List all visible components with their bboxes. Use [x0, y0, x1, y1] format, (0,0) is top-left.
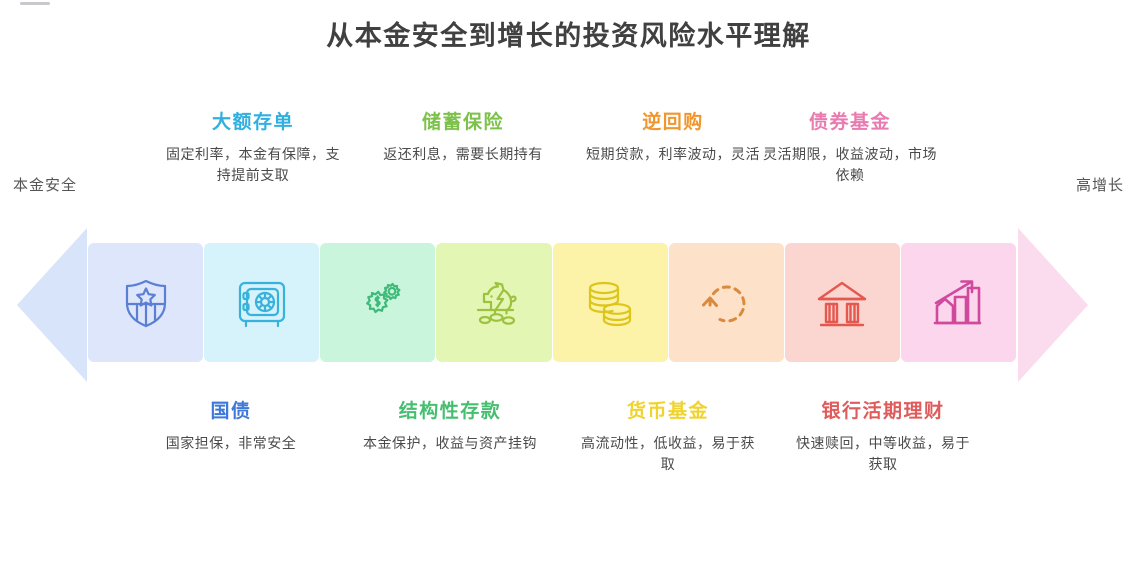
- window-edge-artifact: [20, 2, 50, 5]
- callout-title: 大额存单: [163, 111, 343, 135]
- card-shield-star[interactable]: [88, 243, 203, 362]
- callout-top-3: 逆回购 短期贷款，利率波动，灵活: [583, 111, 763, 166]
- callout-desc: 快速赎回，中等收益，易于获取: [793, 434, 973, 477]
- card-piggy-bank-broken[interactable]: [436, 243, 551, 362]
- callout-title: 国债: [141, 400, 321, 424]
- card-bank-building[interactable]: [785, 243, 900, 362]
- callout-title: 银行活期理财: [793, 400, 973, 424]
- callout-desc: 返还利息，需要长期持有: [373, 145, 553, 167]
- piggy-bank-broken-icon: [465, 275, 523, 331]
- page-title: 从本金安全到增长的投资风险水平理解: [0, 14, 1137, 53]
- coin-stack-icon: [582, 275, 638, 331]
- callout-title: 储蓄保险: [373, 111, 553, 135]
- callout-desc: 固定利率，本金有保障，支持提前支取: [163, 145, 343, 188]
- callout-desc: 国家担保，非常安全: [141, 434, 321, 456]
- risk-spectrum-card-strip: [88, 243, 1016, 362]
- callout-desc: 灵活期限，收益波动，市场依赖: [760, 145, 940, 188]
- callout-bottom-2: 结构性存款 本金保护，收益与资产挂钩: [360, 400, 540, 455]
- card-safe-vault[interactable]: [204, 243, 319, 362]
- callout-title: 逆回购: [583, 111, 763, 135]
- callout-desc: 本金保护，收益与资产挂钩: [360, 434, 540, 456]
- card-growth-bar-chart[interactable]: [901, 243, 1016, 362]
- callout-bottom-4: 银行活期理财 快速赎回，中等收益，易于获取: [793, 400, 973, 477]
- gears-dollar-icon: [350, 275, 406, 331]
- safe-vault-icon: [234, 275, 290, 331]
- bank-building-icon: [813, 275, 871, 331]
- callout-title: 债券基金: [760, 111, 940, 135]
- callout-title: 结构性存款: [360, 400, 540, 424]
- infographic-canvas: 从本金安全到增长的投资风险水平理解 本金安全 高增长: [0, 0, 1137, 570]
- growth-bar-chart-icon: [930, 275, 986, 331]
- card-gears-dollar[interactable]: [320, 243, 435, 362]
- callout-top-2: 储蓄保险 返还利息，需要长期持有: [373, 111, 553, 166]
- callout-desc: 短期贷款，利率波动，灵活: [583, 145, 763, 167]
- left-arrowhead-icon: [17, 228, 87, 382]
- axis-label-left: 本金安全: [13, 174, 77, 195]
- card-coin-stack[interactable]: [553, 243, 668, 362]
- callout-top-1: 大额存单 固定利率，本金有保障，支持提前支取: [163, 111, 343, 188]
- shield-star-icon: [118, 275, 174, 331]
- right-arrowhead-icon: [1018, 228, 1088, 382]
- callout-top-4: 债券基金 灵活期限，收益波动，市场依赖: [760, 111, 940, 188]
- card-dashed-refresh-arrow[interactable]: [669, 243, 784, 362]
- dashed-refresh-arrow-icon: [698, 275, 754, 331]
- callout-title: 货币基金: [578, 400, 758, 424]
- axis-label-right: 高增长: [1076, 174, 1124, 195]
- callout-bottom-1: 国债 国家担保，非常安全: [141, 400, 321, 455]
- callout-bottom-3: 货币基金 高流动性，低收益，易于获取: [578, 400, 758, 477]
- callout-desc: 高流动性，低收益，易于获取: [578, 434, 758, 477]
